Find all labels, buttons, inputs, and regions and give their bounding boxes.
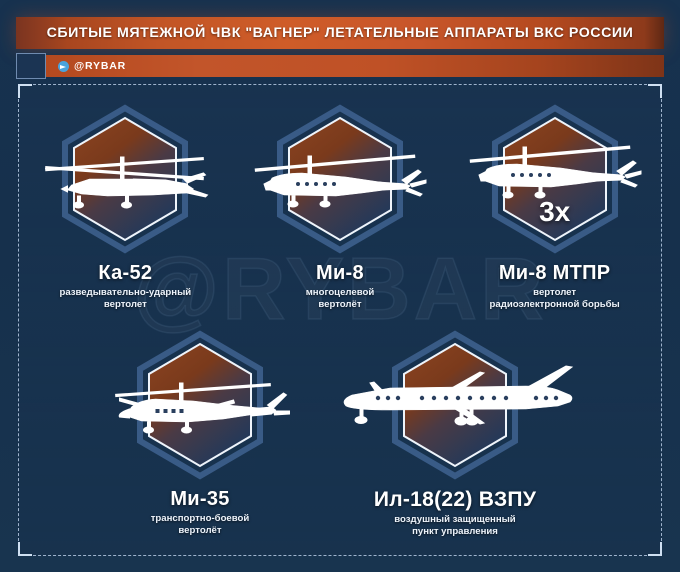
aircraft-card-il18: Ил-18(22) ВЗПУ воздушный защищенный пунк…: [330, 330, 580, 537]
brand-row: @RYBAR: [16, 55, 664, 77]
hexagon-shape: [489, 104, 621, 254]
aircraft-description: разведывательно-ударный вертолет: [25, 287, 225, 310]
aircraft-labels: Ка-52 разведывательно-ударный вертолет: [25, 262, 225, 310]
hexagon-shape: [274, 104, 406, 254]
aircraft-description: вертолет радиоэлектронной борьбы: [455, 287, 655, 310]
telegram-icon: [58, 61, 69, 72]
brand-logo-box: [16, 53, 46, 79]
aircraft-row-bottom: Ми-35 транспортно-боевой вертолёт: [100, 330, 580, 537]
aircraft-description: многоцелевой вертолёт: [240, 287, 440, 310]
hex-badge-ka52: [25, 104, 225, 254]
aircraft-description: воздушный защищенный пункт управления: [330, 514, 580, 537]
hex-badge-il18: [330, 330, 580, 480]
aircraft-labels: Ми-8 МТПР вертолет радиоэлектронной борь…: [455, 262, 655, 310]
hex-badge-mi35: [100, 330, 300, 480]
aircraft-row-top: Ка-52 разведывательно-ударный вертолет: [18, 104, 662, 310]
hexagon-shape: [389, 330, 521, 480]
aircraft-card-mi8: Ми-8 многоцелевой вертолёт: [240, 104, 440, 310]
frame-corner-bottom-right: [648, 542, 662, 556]
aircraft-card-mi8-mtpr: 3х Ми-8 МТПР вертолет радиоэлектронной б…: [455, 104, 655, 310]
frame-corner-bottom-left: [18, 542, 32, 556]
aircraft-card-mi35: Ми-35 транспортно-боевой вертолёт: [100, 330, 300, 537]
aircraft-name: Ми-8: [240, 262, 440, 285]
aircraft-name: Ми-35: [100, 488, 300, 511]
frame-corner-top-left: [18, 84, 32, 98]
frame-corner-top-right: [648, 84, 662, 98]
hexagon-shape: [134, 330, 266, 480]
aircraft-name: Ка-52: [25, 262, 225, 285]
aircraft-name: Ил-18(22) ВЗПУ: [330, 488, 580, 512]
page-title: СБИТЫЕ МЯТЕЖНОЙ ЧВК "ВАГНЕР" ЛЕТАТЕЛЬНЫЕ…: [47, 25, 634, 41]
brand-handle: @RYBAR: [74, 60, 126, 72]
aircraft-card-ka52: Ка-52 разведывательно-ударный вертолет: [25, 104, 225, 310]
aircraft-count-badge: 3х: [539, 196, 570, 228]
hex-badge-mi8-mtpr: 3х: [455, 104, 655, 254]
aircraft-name: Ми-8 МТПР: [455, 262, 655, 285]
infographic-canvas: СБИТЫЕ МЯТЕЖНОЙ ЧВК "ВАГНЕР" ЛЕТАТЕЛЬНЫЕ…: [0, 0, 680, 572]
header-title-bar: СБИТЫЕ МЯТЕЖНОЙ ЧВК "ВАГНЕР" ЛЕТАТЕЛЬНЫЕ…: [16, 17, 664, 49]
aircraft-labels: Ми-8 многоцелевой вертолёт: [240, 262, 440, 310]
aircraft-labels: Ми-35 транспортно-боевой вертолёт: [100, 488, 300, 536]
brand-bar: @RYBAR: [44, 55, 664, 77]
hexagon-shape: [59, 104, 191, 254]
aircraft-labels: Ил-18(22) ВЗПУ воздушный защищенный пунк…: [330, 488, 580, 537]
aircraft-description: транспортно-боевой вертолёт: [100, 513, 300, 536]
hex-badge-mi8: [240, 104, 440, 254]
